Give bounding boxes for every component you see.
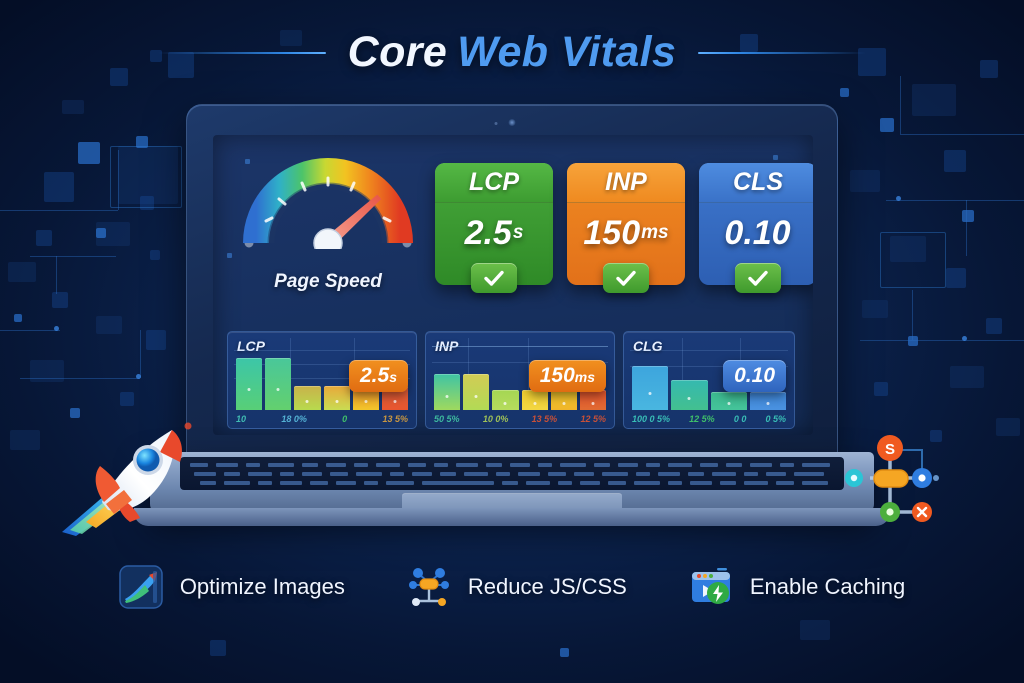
footer-item-reduce-js-css-label: Reduce JS/CSS (468, 574, 627, 600)
bar (522, 390, 548, 410)
chart-panel-inp-axis: 50 5% 10 0% 13 5% 12 5% (434, 412, 606, 425)
speedometer-icon (239, 149, 417, 249)
browser-bolt-icon (689, 565, 733, 609)
chart-panel-inp[interactable]: INP 5 (425, 331, 615, 429)
laptop-trackpad[interactable] (402, 493, 622, 512)
chart-panel-lcp-badge: 2.5s (349, 360, 408, 392)
bar (236, 358, 262, 410)
check-icon (471, 263, 517, 293)
bar (265, 358, 291, 410)
metric-card-lcp-title: LCP (435, 163, 553, 203)
metric-card-lcp-value: 2.5s (435, 203, 553, 263)
chart-panels: LCP (227, 331, 795, 429)
laptop-keyboard (180, 457, 844, 490)
network-nodes-icon (407, 565, 451, 609)
chart-panel-cls-axis: 100 0 5% 12 5% 0 0 0 5% (632, 412, 786, 425)
bar (324, 386, 350, 410)
bar (294, 386, 320, 410)
chart-panel-cls-badge: 0.10 (723, 360, 786, 392)
footer-tips: Optimize Images (0, 552, 1024, 622)
metric-card-lcp-unit: s (513, 222, 524, 244)
laptop-front-notch (452, 508, 572, 520)
metric-card-inp-title: INP (567, 163, 685, 203)
chart-panel-lcp-axis: 10 18 0% 0 13 5% (236, 412, 408, 425)
check-icon (603, 263, 649, 293)
footer-item-enable-caching-label: Enable Caching (750, 574, 905, 600)
bar (551, 390, 577, 410)
gauge-label: Page Speed (233, 271, 423, 293)
footer-item-optimize-images[interactable]: Optimize Images (119, 565, 345, 609)
metric-card-lcp-number: 2.5 (465, 214, 512, 253)
footer-item-reduce-js-css[interactable]: Reduce JS/CSS (407, 565, 627, 609)
laptop-screen: Page Speed LCP 2.5s INP (213, 135, 813, 435)
bar (671, 380, 707, 410)
metric-card-cls-title: CLS (699, 163, 813, 203)
bar (434, 374, 460, 410)
poster-canvas: CoreWeb Vitals (0, 0, 1024, 683)
bar (711, 392, 747, 410)
metric-card-cls-value: 0.10 (699, 203, 813, 263)
metric-cards: LCP 2.5s INP 150ms (435, 163, 813, 285)
metric-card-inp-value: 150ms (567, 203, 685, 263)
network-badge-letter: S (885, 441, 895, 458)
metric-card-inp-number: 150 (583, 214, 640, 253)
bar (463, 374, 489, 410)
metric-card-inp[interactable]: INP 150ms (567, 163, 685, 285)
chart-panel-inp-badge: 150ms (529, 360, 606, 392)
bar (632, 366, 668, 410)
metric-card-lcp[interactable]: LCP 2.5s (435, 163, 553, 285)
laptop-base (150, 452, 874, 514)
footer-item-optimize-images-label: Optimize Images (180, 574, 345, 600)
metric-card-cls[interactable]: CLS 0.10 (699, 163, 813, 285)
page-speed-gauge: Page Speed (233, 149, 423, 309)
chart-panel-cls[interactable]: CLG 100 0 5% 12 5% (623, 331, 795, 429)
bar (492, 390, 518, 410)
webcam-icon (509, 119, 516, 126)
footer-item-enable-caching[interactable]: Enable Caching (689, 565, 905, 609)
rocket-icon (60, 418, 210, 538)
image-optimize-icon (119, 565, 163, 609)
metric-card-cls-number: 0.10 (724, 214, 790, 253)
bar (580, 390, 606, 410)
metric-card-inp-unit: ms (641, 222, 668, 244)
bar (750, 392, 786, 410)
laptop-lid: Page Speed LCP 2.5s INP (186, 104, 838, 456)
network-graph-icon: S (836, 426, 946, 536)
check-icon (735, 263, 781, 293)
chart-panel-lcp[interactable]: LCP (227, 331, 417, 429)
